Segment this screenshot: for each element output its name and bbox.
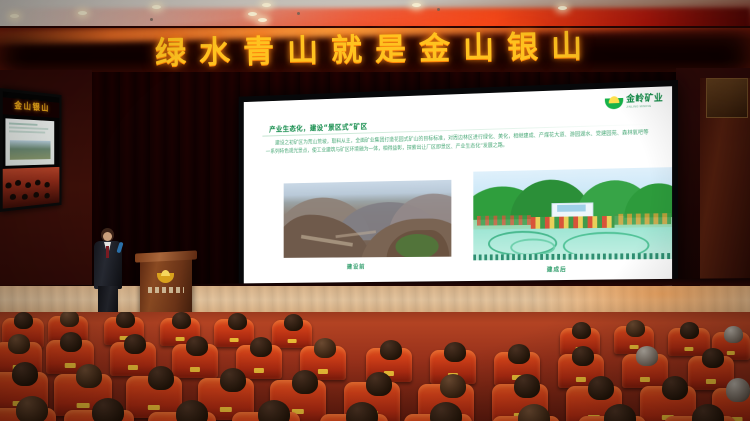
audience-head — [250, 337, 272, 357]
audience-section — [0, 312, 750, 421]
company-logo: 金岭矿业 JINLING MINING — [605, 94, 663, 110]
audience-head — [186, 336, 208, 356]
audience-head — [314, 338, 336, 358]
audience-head — [380, 340, 402, 360]
downlight — [558, 6, 567, 10]
photo-after-image — [473, 167, 672, 260]
side-monitor-banner: 金山银山 — [3, 97, 60, 118]
logo-name-en: JINLING MINING — [626, 104, 663, 108]
audience-head — [508, 344, 530, 364]
side-monitor-slide — [5, 118, 54, 166]
audience-head — [572, 346, 594, 366]
downlight — [248, 12, 257, 16]
audience-head — [702, 348, 724, 368]
audience-head — [680, 322, 699, 339]
speaker-tie — [106, 246, 109, 258]
audience-head — [12, 362, 38, 386]
audience-head — [366, 372, 392, 396]
presentation-slide: 金岭矿业 JINLING MINING 产业生态化，建设“景区式”矿区 建设之初… — [244, 86, 672, 296]
audience-head — [172, 312, 191, 329]
audience-head — [76, 364, 102, 388]
ceiling-vent — [297, 12, 300, 15]
audience-head — [284, 314, 303, 331]
audience-head — [8, 334, 30, 354]
audience-head — [228, 313, 247, 330]
projection-screen[interactable]: 金岭矿业 JINLING MINING 产业生态化，建设“景区式”矿区 建设之初… — [239, 80, 678, 302]
audience-head — [724, 326, 743, 343]
downlight — [10, 14, 19, 18]
audience-head — [176, 400, 208, 421]
slide-photo-row: 建设前 建成后 — [261, 166, 659, 277]
audience-head — [444, 342, 466, 362]
podium-top — [135, 250, 197, 262]
audience-head — [572, 322, 591, 339]
photo-after-caption: 建成后 — [547, 265, 567, 274]
audience-head — [220, 368, 246, 392]
speaker-face — [103, 232, 112, 241]
audience-head — [604, 404, 636, 421]
photo-before-caption: 建设前 — [347, 262, 365, 271]
audience-head — [292, 370, 318, 394]
side-monitor-slide-photo — [10, 140, 51, 160]
side-monitor[interactable]: 金山银山 — [0, 88, 62, 212]
downlight — [78, 11, 87, 15]
audience-head — [60, 312, 79, 327]
audience-head — [440, 374, 466, 398]
photo-before — [283, 179, 452, 259]
auditorium-scene: 绿水青山就是金山银山 金山银山 — [0, 0, 750, 421]
audience-head — [124, 334, 146, 354]
photo-after — [472, 166, 672, 261]
wall-picture-frame — [706, 78, 748, 118]
ceiling-vent — [150, 18, 153, 21]
audience-head — [258, 400, 290, 421]
audience-head — [16, 396, 48, 421]
speaker-presenter — [92, 228, 124, 320]
audience-head — [726, 378, 750, 402]
side-monitor-banner-text: 金山银山 — [3, 97, 60, 118]
audience-head — [14, 312, 33, 329]
podium-logo-icon — [157, 270, 174, 283]
side-monitor-audience — [3, 167, 60, 209]
photo-before-image — [284, 180, 452, 258]
audience-head — [588, 376, 614, 400]
logo-mark-icon — [605, 95, 623, 109]
podium-nameplate — [148, 287, 184, 293]
downlight — [152, 5, 161, 9]
logo-name-cn: 金岭矿业 — [626, 94, 663, 104]
downlight — [262, 3, 271, 7]
audience-head — [116, 312, 135, 328]
ceiling-vent — [437, 8, 440, 11]
downlight — [258, 18, 267, 22]
audience-head — [60, 332, 82, 352]
audience-head — [148, 366, 174, 390]
audience-head — [626, 320, 645, 337]
audience-head — [636, 346, 658, 366]
audience-head — [662, 376, 688, 400]
audience-head — [92, 398, 124, 421]
downlight — [412, 3, 421, 7]
audience-head — [514, 374, 540, 398]
